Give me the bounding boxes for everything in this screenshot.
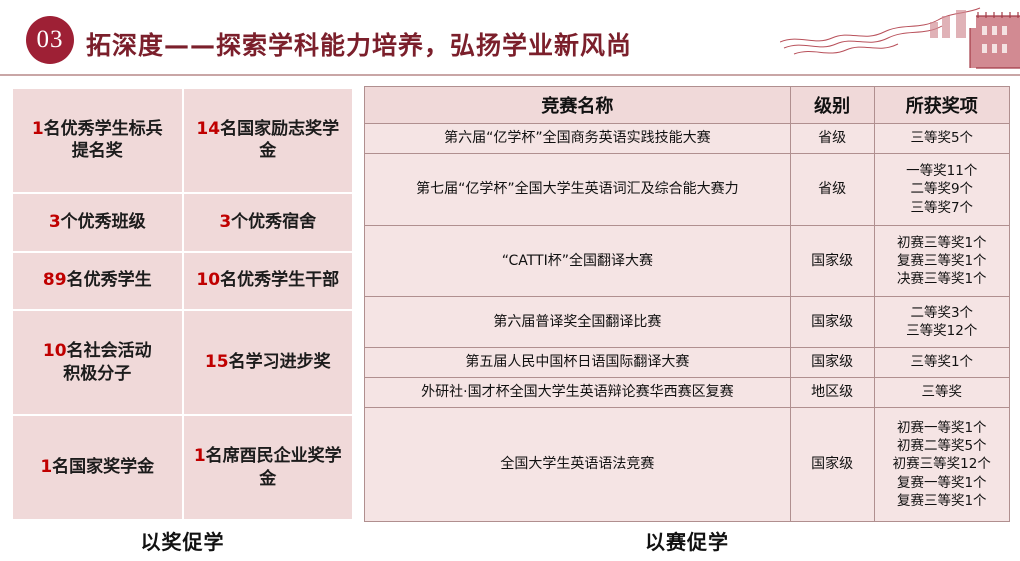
award-cell: 10名社会活动 积极分子 bbox=[12, 310, 183, 415]
award-count: 15 bbox=[205, 352, 229, 372]
table-row: “CATTI杯”全国翻译大赛 国家级 初赛三等奖1个 复赛三等奖1个 决赛三等奖… bbox=[365, 225, 1010, 297]
award-count: 14 bbox=[196, 119, 220, 139]
award-cell: 15名学习进步奖 bbox=[183, 310, 354, 415]
competition-level: 国家级 bbox=[790, 407, 874, 521]
table-row: 外研社·国才杯全国大学生英语辩论赛华西赛区复赛 地区级 三等奖 bbox=[365, 377, 1010, 407]
award-label: 名国家奖学金 bbox=[52, 457, 154, 477]
award-count: 1 bbox=[40, 457, 52, 477]
competition-name: 第五届人民中国杯日语国际翻译大赛 bbox=[365, 347, 791, 377]
award-label: 名优秀学生 bbox=[67, 270, 152, 290]
great-wall-illustration-icon bbox=[780, 0, 1020, 74]
table-header-row: 竞赛名称 级别 所获奖项 bbox=[365, 87, 1010, 124]
competition-level: 地区级 bbox=[790, 377, 874, 407]
awards-grid-panel: 1名优秀学生标兵 提名奖 14名国家励志奖学 金 3个优秀班级 3个优秀宿舍 8… bbox=[10, 86, 355, 522]
table-row: 第六届普译奖全国翻译比赛 国家级 二等奖3个 三等奖12个 bbox=[365, 297, 1010, 347]
competition-awards: 三等奖1个 bbox=[874, 347, 1009, 377]
competition-name: 第七届“亿学杯”全国大学生英语词汇及综合能大赛力 bbox=[365, 154, 791, 226]
award-label: 名学习进步奖 bbox=[229, 352, 331, 372]
table-row: 1名优秀学生标兵 提名奖 14名国家励志奖学 金 bbox=[12, 88, 353, 193]
column-header-name: 竞赛名称 bbox=[365, 87, 791, 124]
award-label: 个优秀班级 bbox=[61, 212, 146, 232]
award-label: 名国家励志奖学 金 bbox=[220, 119, 339, 162]
table-row: 第五届人民中国杯日语国际翻译大赛 国家级 三等奖1个 bbox=[365, 347, 1010, 377]
award-count: 10 bbox=[43, 341, 67, 361]
award-label: 个优秀宿舍 bbox=[231, 212, 316, 232]
competition-awards: 三等奖5个 bbox=[874, 124, 1009, 154]
competition-name: 外研社·国才杯全国大学生英语辩论赛华西赛区复赛 bbox=[365, 377, 791, 407]
awards-grid: 1名优秀学生标兵 提名奖 14名国家励志奖学 金 3个优秀班级 3个优秀宿舍 8… bbox=[11, 87, 354, 521]
award-cell: 89名优秀学生 bbox=[12, 252, 183, 311]
competition-level: 国家级 bbox=[790, 297, 874, 347]
competition-awards: 初赛一等奖1个 初赛二等奖5个 初赛三等奖12个 复赛一等奖1个 复赛三等奖1个 bbox=[874, 407, 1009, 521]
competition-awards: 二等奖3个 三等奖12个 bbox=[874, 297, 1009, 347]
table-row: 89名优秀学生 10名优秀学生干部 bbox=[12, 252, 353, 311]
competition-name: 全国大学生英语语法竞赛 bbox=[365, 407, 791, 521]
award-label: 名席酉民企业奖学金 bbox=[206, 446, 342, 489]
table-row: 第七届“亿学杯”全国大学生英语词汇及综合能大赛力 省级 一等奖11个 二等奖9个… bbox=[365, 154, 1010, 226]
competition-level: 省级 bbox=[790, 154, 874, 226]
award-cell: 10名优秀学生干部 bbox=[183, 252, 354, 311]
competition-caption: 以赛促学 bbox=[364, 526, 1010, 555]
award-count: 1 bbox=[194, 446, 206, 466]
award-cell: 3个优秀班级 bbox=[12, 193, 183, 252]
competition-name: “CATTI杯”全国翻译大赛 bbox=[365, 225, 791, 297]
table-row: 10名社会活动 积极分子 15名学习进步奖 bbox=[12, 310, 353, 415]
slide-header: 03 拓深度——探索学科能力培养，弘扬学业新风尚 bbox=[0, 0, 1020, 76]
award-label: 名社会活动 积极分子 bbox=[63, 341, 151, 384]
competition-level: 国家级 bbox=[790, 225, 874, 297]
competition-level: 省级 bbox=[790, 124, 874, 154]
award-cell: 1名国家奖学金 bbox=[12, 415, 183, 520]
competition-awards: 三等奖 bbox=[874, 377, 1009, 407]
column-header-level: 级别 bbox=[790, 87, 874, 124]
award-count: 1 bbox=[32, 119, 44, 139]
competition-awards: 初赛三等奖1个 复赛三等奖1个 决赛三等奖1个 bbox=[874, 225, 1009, 297]
award-label: 名优秀学生标兵 提名奖 bbox=[44, 119, 163, 162]
award-cell: 14名国家励志奖学 金 bbox=[183, 88, 354, 193]
column-header-awards: 所获奖项 bbox=[874, 87, 1009, 124]
competition-awards: 一等奖11个 二等奖9个 三等奖7个 bbox=[874, 154, 1009, 226]
section-number-badge: 03 bbox=[26, 16, 74, 64]
competition-level: 国家级 bbox=[790, 347, 874, 377]
competition-table: 竞赛名称 级别 所获奖项 第六届“亿学杯”全国商务英语实践技能大赛 省级 三等奖… bbox=[364, 86, 1010, 522]
award-cell: 1名优秀学生标兵 提名奖 bbox=[12, 88, 183, 193]
competition-name: 第六届“亿学杯”全国商务英语实践技能大赛 bbox=[365, 124, 791, 154]
header-divider bbox=[0, 74, 1020, 76]
award-count: 89 bbox=[43, 270, 67, 290]
table-row: 1名国家奖学金 1名席酉民企业奖学金 bbox=[12, 415, 353, 520]
award-label: 名优秀学生干部 bbox=[220, 270, 339, 290]
page-title: 拓深度——探索学科能力培养，弘扬学业新风尚 bbox=[86, 26, 632, 62]
table-row: 全国大学生英语语法竞赛 国家级 初赛一等奖1个 初赛二等奖5个 初赛三等奖12个… bbox=[365, 407, 1010, 521]
award-count: 3 bbox=[49, 212, 61, 232]
award-count: 10 bbox=[196, 270, 220, 290]
award-cell: 1名席酉民企业奖学金 bbox=[183, 415, 354, 520]
awards-caption: 以奖促学 bbox=[10, 526, 355, 555]
table-row: 3个优秀班级 3个优秀宿舍 bbox=[12, 193, 353, 252]
table-row: 第六届“亿学杯”全国商务英语实践技能大赛 省级 三等奖5个 bbox=[365, 124, 1010, 154]
competition-table-panel: 竞赛名称 级别 所获奖项 第六届“亿学杯”全国商务英语实践技能大赛 省级 三等奖… bbox=[364, 86, 1010, 522]
award-cell: 3个优秀宿舍 bbox=[183, 193, 354, 252]
award-count: 3 bbox=[219, 212, 231, 232]
competition-name: 第六届普译奖全国翻译比赛 bbox=[365, 297, 791, 347]
